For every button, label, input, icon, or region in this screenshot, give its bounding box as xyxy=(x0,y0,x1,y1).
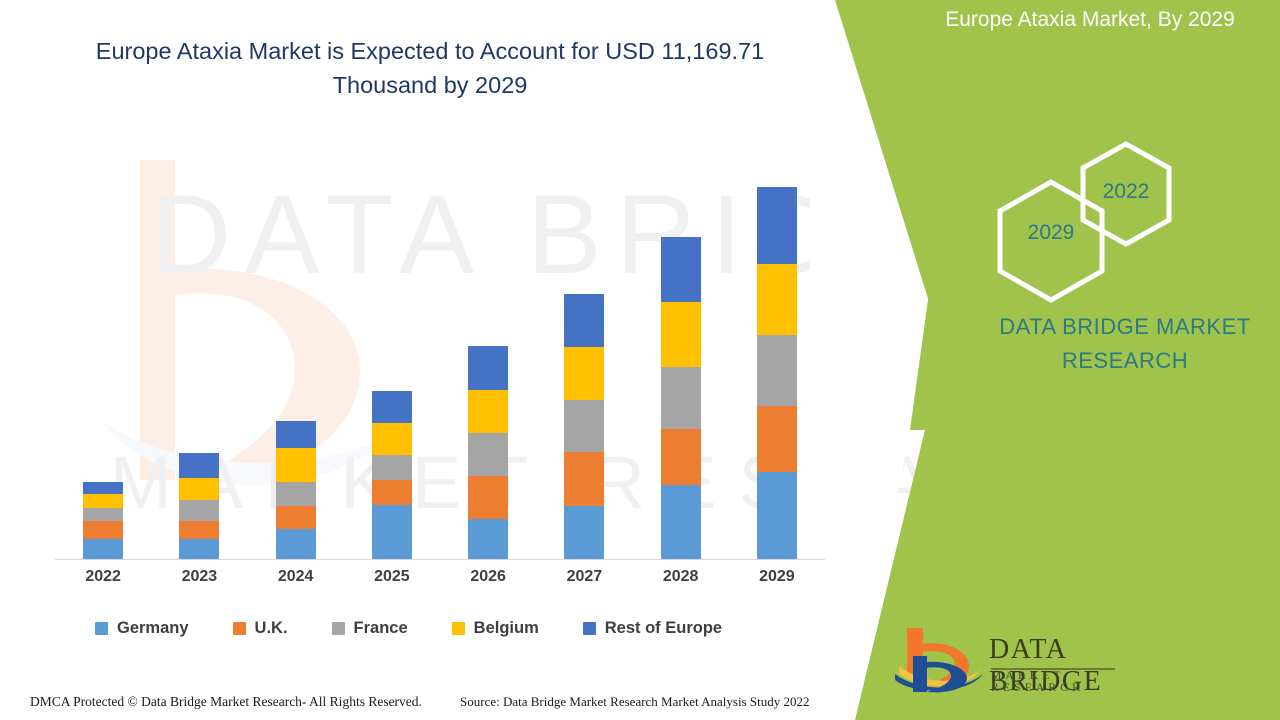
bar-segment-belgium xyxy=(83,494,123,508)
bar-group xyxy=(468,346,508,559)
bar-segment-rest-of-europe xyxy=(661,237,701,302)
bar-segment-u-k xyxy=(276,506,316,529)
bar-segment-germany xyxy=(757,472,797,559)
bar-segment-rest-of-europe xyxy=(468,346,508,390)
legend-swatch-icon xyxy=(583,622,596,635)
panel-brand-line-1: DATA BRIDGE MARKET xyxy=(975,310,1275,344)
bar-segment-belgium xyxy=(468,390,508,433)
bar-group xyxy=(757,187,797,559)
chart-title: Europe Ataxia Market is Expected to Acco… xyxy=(60,34,800,102)
legend-item[interactable]: U.K. xyxy=(233,619,288,638)
hexagon-badge-2029-label: 2029 xyxy=(995,221,1107,245)
bar-segment-belgium xyxy=(564,347,604,400)
bar-segment-germany xyxy=(179,539,219,559)
legend-item[interactable]: Germany xyxy=(95,619,189,638)
bar-segment-rest-of-europe xyxy=(179,453,219,478)
bar-segment-rest-of-europe xyxy=(276,421,316,448)
legend-swatch-icon xyxy=(452,622,465,635)
bar-segment-belgium xyxy=(372,423,412,455)
x-axis-label: 2027 xyxy=(554,568,614,586)
bar-segment-u-k xyxy=(468,476,508,519)
bar-segment-germany xyxy=(468,519,508,559)
bar-segment-belgium xyxy=(179,478,219,500)
x-axis-label: 2022 xyxy=(73,568,133,586)
bar-segment-u-k xyxy=(564,452,604,506)
bar-segment-france xyxy=(757,335,797,406)
bar-segment-france xyxy=(179,500,219,521)
bar-segment-germany xyxy=(83,539,123,559)
legend-label: Belgium xyxy=(474,619,539,638)
x-axis-label: 2028 xyxy=(651,568,711,586)
bar-segment-rest-of-europe xyxy=(757,187,797,264)
bar-segment-germany xyxy=(564,506,604,559)
bar-segment-u-k xyxy=(179,521,219,539)
panel-title: Europe Ataxia Market, By 2029 xyxy=(905,8,1275,32)
x-axis-label: 2024 xyxy=(266,568,326,586)
bar-segment-germany xyxy=(661,485,701,559)
bar-segment-belgium xyxy=(661,302,701,367)
panel-brand-line-2: RESEARCH xyxy=(975,344,1275,378)
x-axis-label: 2029 xyxy=(747,568,807,586)
legend-swatch-icon xyxy=(332,622,345,635)
bar-group xyxy=(179,453,219,559)
bar-group xyxy=(276,421,316,559)
bar-segment-france xyxy=(564,400,604,452)
legend-swatch-icon xyxy=(95,622,108,635)
legend-item[interactable]: France xyxy=(332,619,408,638)
x-axis-label: 2025 xyxy=(362,568,422,586)
infographic-canvas: DATA BRIDGE MARKET RESEARCH Europe Ataxi… xyxy=(0,0,1280,720)
bar-segment-france xyxy=(372,455,412,480)
legend-swatch-icon xyxy=(233,622,246,635)
legend-item[interactable]: Belgium xyxy=(452,619,539,638)
bar-segment-france xyxy=(661,367,701,429)
x-axis-labels: 20222023202420252026202720282029 xyxy=(55,568,825,594)
bar-group xyxy=(372,391,412,559)
bar-group xyxy=(564,294,604,559)
bar-group xyxy=(83,482,123,559)
bar-segment-rest-of-europe xyxy=(564,294,604,347)
bar-segment-u-k xyxy=(757,406,797,472)
bar-segment-belgium xyxy=(757,264,797,335)
x-axis-line xyxy=(55,559,825,560)
bar-segment-france xyxy=(83,508,123,521)
x-axis-label: 2026 xyxy=(458,568,518,586)
legend-item[interactable]: Rest of Europe xyxy=(583,619,722,638)
legend-label: France xyxy=(354,619,408,638)
bar-segment-france xyxy=(468,433,508,476)
footer-copyright: DMCA Protected © Data Bridge Market Rese… xyxy=(30,694,422,710)
bar-segment-rest-of-europe xyxy=(372,391,412,423)
bar-group xyxy=(661,237,701,559)
chart-legend: GermanyU.K.FranceBelgiumRest of Europe xyxy=(95,616,766,640)
bar-segment-germany xyxy=(372,505,412,559)
bar-segment-rest-of-europe xyxy=(83,482,123,494)
bar-segment-u-k xyxy=(661,429,701,485)
stacked-bar-chart xyxy=(55,150,825,560)
bar-segment-germany xyxy=(276,529,316,559)
footer-source: Source: Data Bridge Market Research Mark… xyxy=(460,694,809,710)
bar-segment-u-k xyxy=(372,480,412,505)
bar-segment-belgium xyxy=(276,448,316,482)
legend-label: U.K. xyxy=(255,619,288,638)
bar-segment-u-k xyxy=(83,521,123,539)
footer-bar: DMCA Protected © Data Bridge Market Rese… xyxy=(0,686,1280,720)
panel-brand-text: DATA BRIDGE MARKET RESEARCH xyxy=(975,310,1275,378)
legend-label: Rest of Europe xyxy=(605,619,722,638)
x-axis-label: 2023 xyxy=(169,568,229,586)
bar-segment-france xyxy=(276,482,316,506)
legend-label: Germany xyxy=(117,619,189,638)
logo-mark-icon xyxy=(893,622,985,694)
